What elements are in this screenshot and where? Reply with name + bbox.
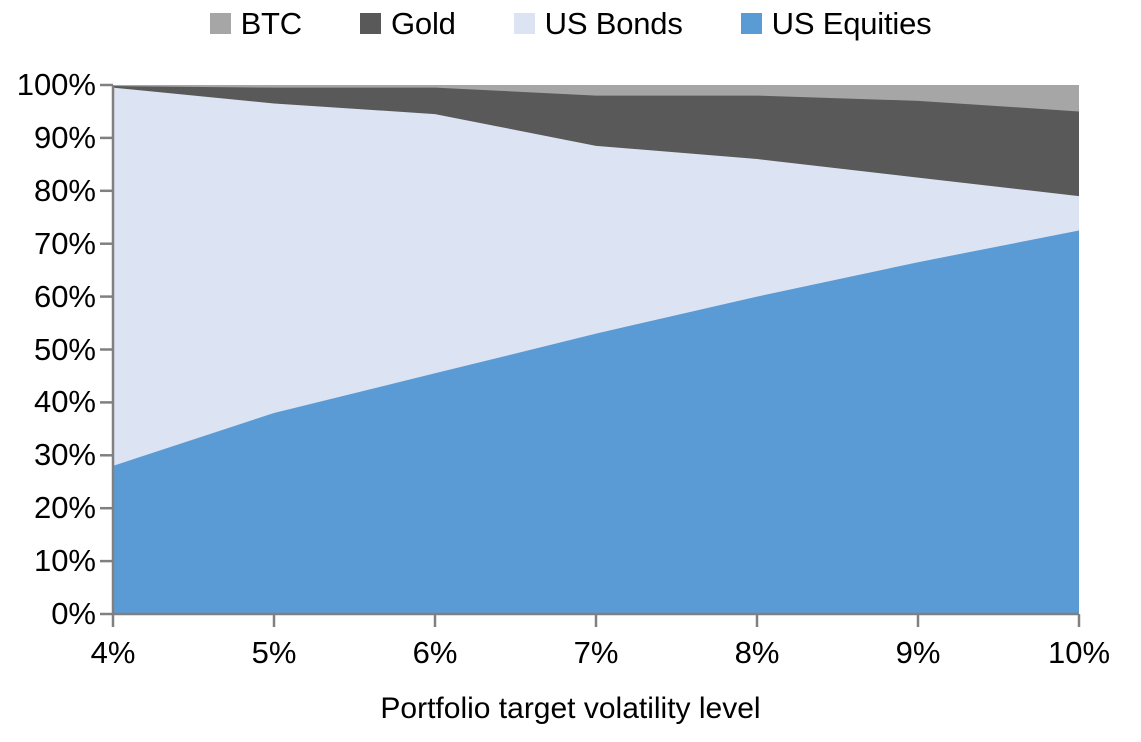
x-axis-title: Portfolio target volatility level	[0, 692, 1141, 726]
x-axis-tick-labels: 4%5%6%7%8%9%10%	[0, 0, 1141, 742]
x-axis-tick-label: 8%	[735, 637, 780, 668]
x-axis-tick-label: 10%	[1048, 637, 1110, 668]
stacked-area-chart: BTC Gold US Bonds US Equities 0%10%20%30…	[0, 0, 1141, 742]
x-axis-tick-label: 7%	[574, 637, 619, 668]
x-axis-tick-label: 9%	[896, 637, 941, 668]
x-axis-tick-label: 6%	[413, 637, 458, 668]
x-axis-tick-label: 4%	[91, 637, 136, 668]
x-axis-tick-label: 5%	[252, 637, 297, 668]
